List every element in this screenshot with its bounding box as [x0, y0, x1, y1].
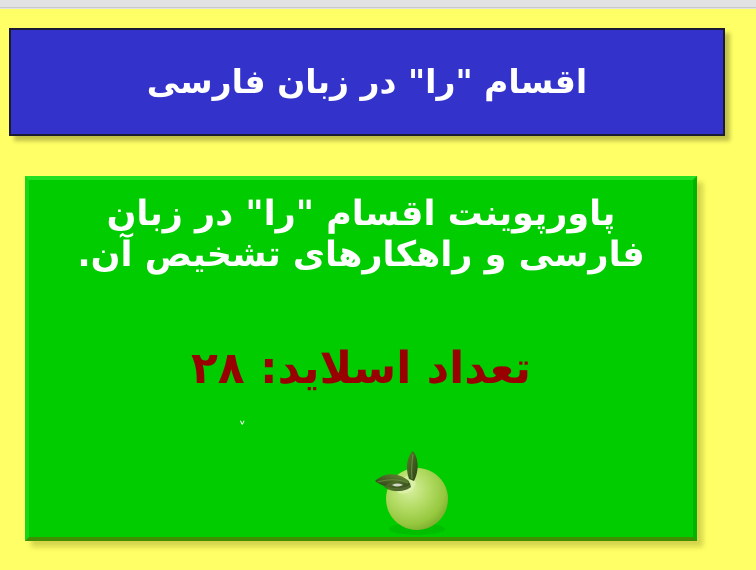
content-heading-line-2: فارسی و راهکارهای تشخیص آن. [29, 235, 693, 276]
slide-count-label: تعداد اسلاید: ۲۸ [29, 343, 693, 394]
green-apple-icon [351, 445, 471, 537]
content-heading-block: پاورپوینت اقسام "را" در زبان فارسی و راه… [29, 194, 693, 276]
slide-canvas: اقسام "را" در زبان فارسی پاورپوینت اقسام… [0, 9, 756, 570]
tick-mark-artifact: ˅ [234, 423, 246, 433]
window-chrome-strip [0, 0, 756, 8]
presentation-slide: اقسام "را" در زبان فارسی پاورپوینت اقسام… [0, 0, 756, 570]
slide-title-text: اقسام "را" در زبان فارسی [133, 61, 601, 102]
slide-title-box: اقسام "را" در زبان فارسی [9, 28, 725, 136]
slide-content-box: پاورپوینت اقسام "را" در زبان فارسی و راه… [25, 176, 697, 541]
green-apple-svg [351, 445, 471, 537]
content-heading-line-1: پاورپوینت اقسام "را" در زبان [29, 194, 693, 235]
